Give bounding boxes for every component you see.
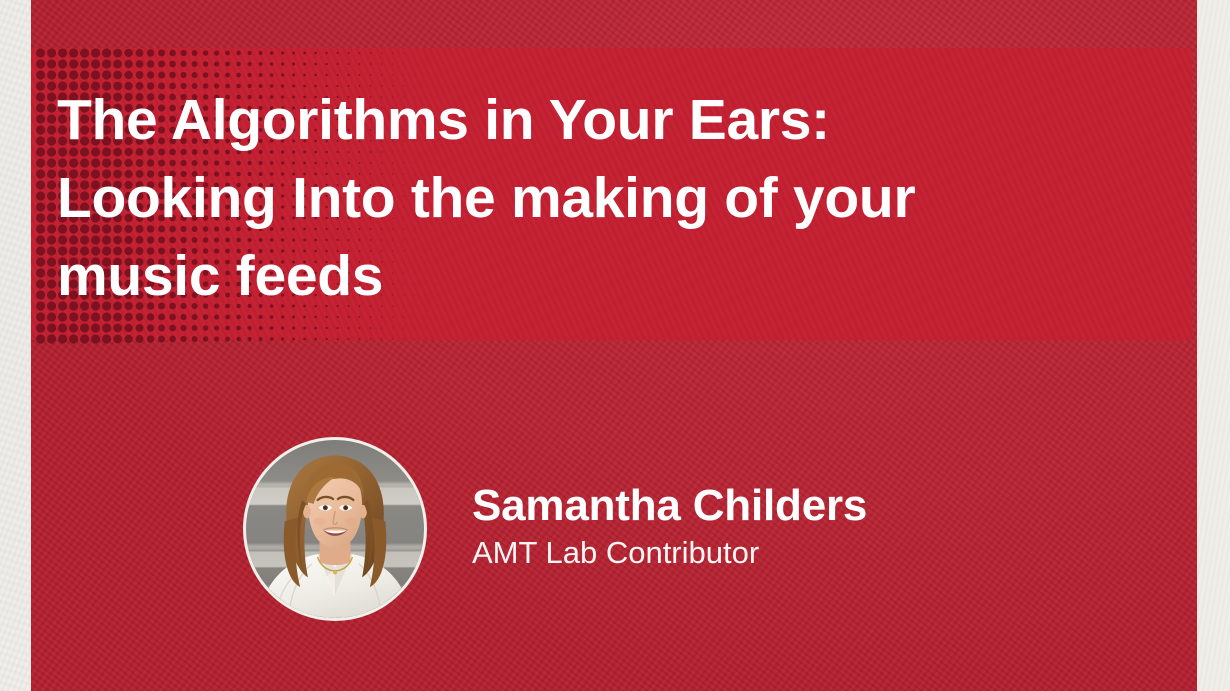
author-role: AMT Lab Contributor	[472, 534, 867, 572]
avatar	[243, 437, 427, 621]
title-card-slide: The Algorithms in Your Ears: Looking Int…	[0, 0, 1230, 691]
author-text-block: Samantha Childers AMT Lab Contributor	[472, 480, 867, 578]
right-margin-strip	[1197, 0, 1230, 691]
author-name: Samantha Childers	[472, 480, 867, 532]
avatar-photo	[246, 440, 424, 618]
author-block: Samantha Childers AMT Lab Contributor	[243, 437, 867, 621]
page-title: The Algorithms in Your Ears: Looking Int…	[57, 81, 1087, 315]
